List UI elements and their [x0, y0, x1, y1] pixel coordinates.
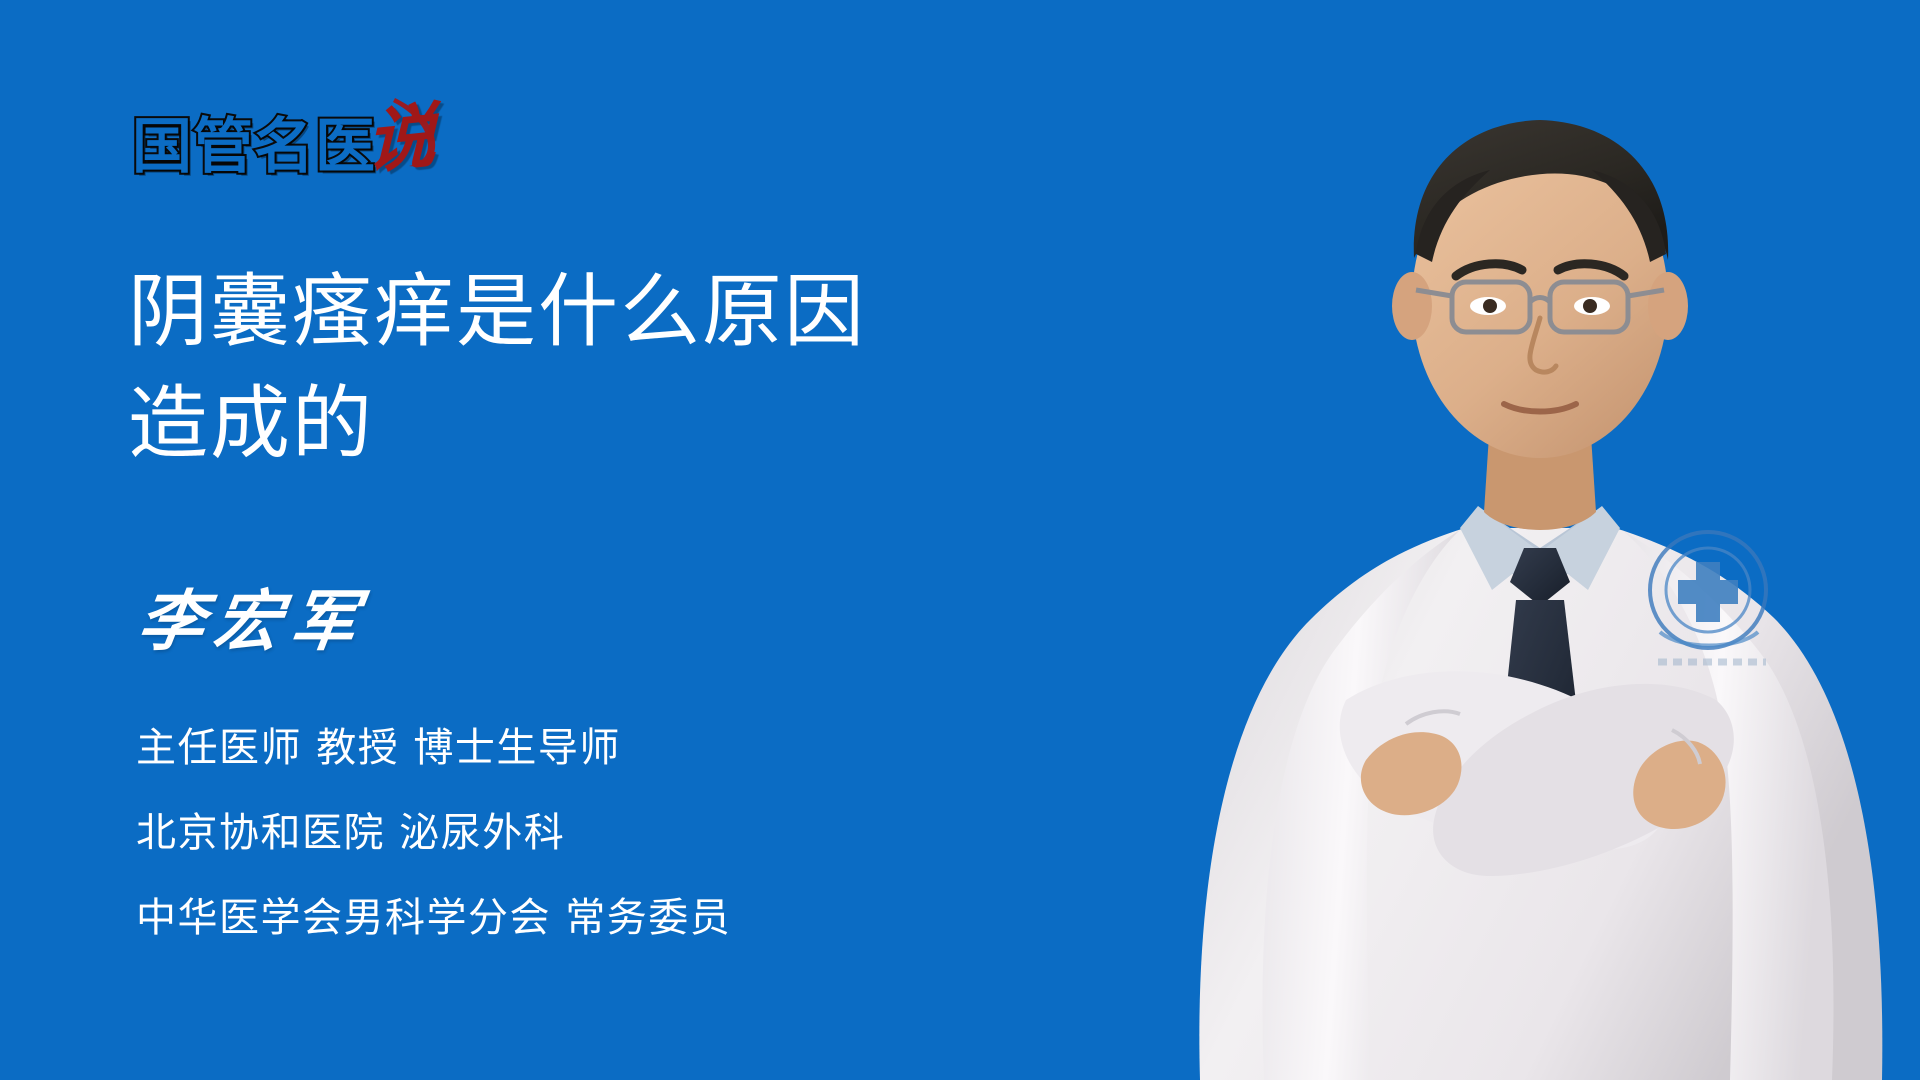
pupil-left — [1483, 299, 1497, 313]
doctor-portrait — [1160, 0, 1920, 1080]
pupil-right — [1583, 299, 1597, 313]
credential-line: 北京协和医院 泌尿外科 — [136, 813, 731, 853]
credential-line: 主任医师 教授 博士生导师 — [136, 728, 731, 768]
speaker-name-signature: 李宏军 — [134, 588, 371, 654]
ear-right — [1648, 272, 1688, 340]
brand-logo: 国管名医 说 — [132, 108, 436, 194]
hospital-cross-emblem — [1650, 532, 1766, 648]
doctor-portrait-illustration — [1160, 0, 1920, 1080]
headline-line-1: 阴囊瘙痒是什么原因 — [128, 256, 1128, 368]
video-title-card: 国管名医 说 阴囊瘙痒是什么原因 造成的 李宏军 主任医师 教授 博士生导师 北… — [0, 0, 1920, 1080]
video-headline: 阴囊瘙痒是什么原因 造成的 — [128, 256, 1128, 480]
credential-line: 中华医学会男科学分会 常务委员 — [136, 898, 731, 938]
ear-left — [1392, 272, 1432, 340]
brand-logo-accent-text: 说 — [366, 100, 436, 178]
brand-logo-main-text: 国管名医 — [132, 117, 376, 177]
speaker-credentials: 主任医师 教授 博士生导师 北京协和医院 泌尿外科 中华医学会男科学分会 常务委… — [136, 728, 731, 938]
headline-line-2: 造成的 — [128, 368, 1128, 480]
